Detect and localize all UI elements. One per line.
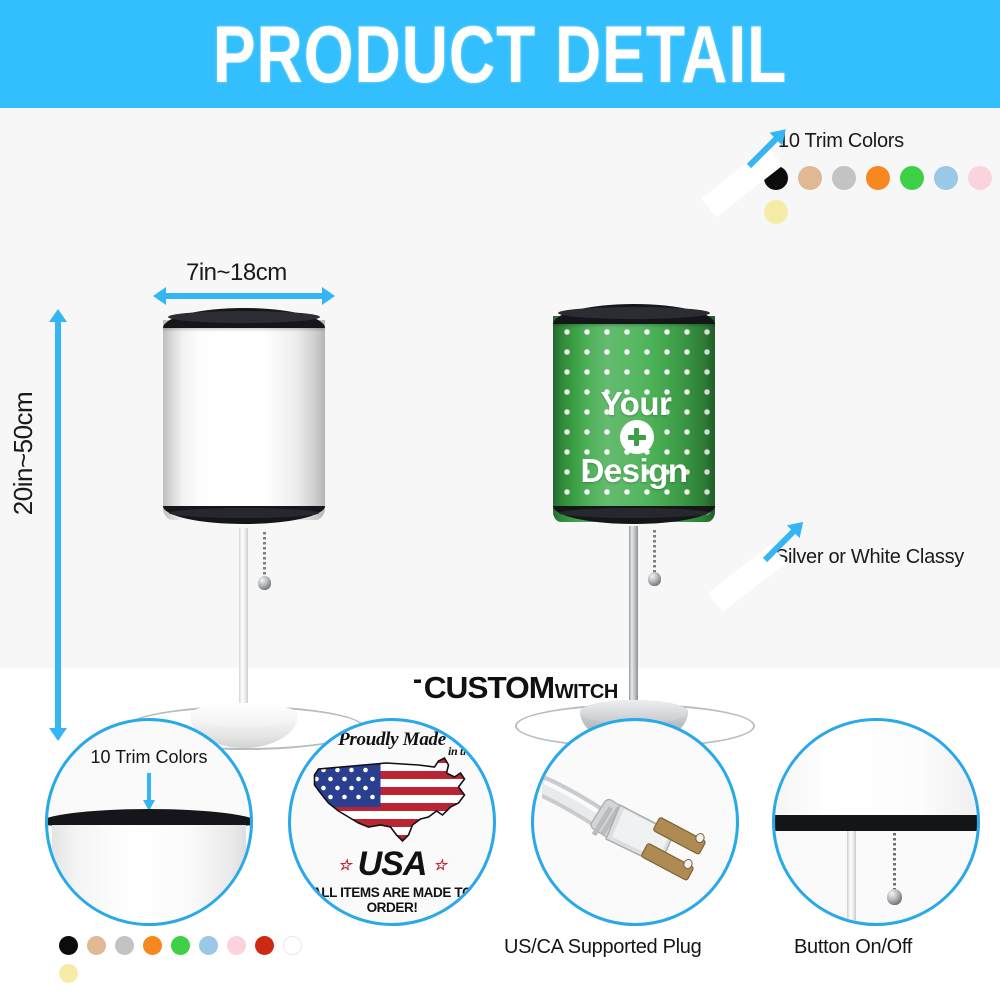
pull-chain-ball[interactable] bbox=[887, 889, 902, 905]
swatch-yellow[interactable] bbox=[764, 200, 788, 224]
swatch-yellow[interactable] bbox=[59, 964, 78, 983]
trim-inner bbox=[168, 311, 320, 323]
swatch-orange[interactable] bbox=[866, 166, 890, 190]
swatch-white[interactable] bbox=[283, 936, 302, 955]
lampshade-bottom-trim bbox=[163, 506, 325, 524]
swatch-tan[interactable] bbox=[87, 936, 106, 955]
trim-color-swatches-top-row2[interactable] bbox=[764, 200, 788, 224]
feature-made-in-usa: Proudly Made in the bbox=[288, 718, 496, 926]
swatch-gray[interactable] bbox=[115, 936, 134, 955]
lamp-pole-white bbox=[239, 528, 248, 713]
feature-circle-trim: 10 Trim Colors bbox=[45, 718, 253, 926]
swatch-orange[interactable] bbox=[143, 936, 162, 955]
feature-trim-inner-label: 10 Trim Colors bbox=[90, 747, 207, 768]
page-header: PRODUCT DETAIL bbox=[0, 0, 1000, 108]
lampshade-top-trim bbox=[163, 308, 325, 328]
trim-colors-annotation-label: 10 Trim Colors bbox=[778, 130, 904, 153]
feature-switch: Button On/Off bbox=[772, 718, 980, 926]
swatch-green[interactable] bbox=[900, 166, 924, 190]
swatch-red[interactable] bbox=[255, 936, 274, 955]
feature-circle-plug bbox=[531, 718, 739, 926]
brand-name-primary: CUSTOM bbox=[424, 670, 554, 706]
lamp-trim-closeup-icon bbox=[772, 815, 980, 831]
trim-inner bbox=[558, 307, 710, 319]
usa-flag-map-icon bbox=[308, 755, 476, 851]
c-circle-icon bbox=[390, 664, 424, 698]
swatch-light-blue[interactable] bbox=[199, 936, 218, 955]
star-icon-right: ☆ bbox=[433, 856, 445, 874]
design-line-1: Your bbox=[553, 387, 715, 421]
swatch-light-blue[interactable] bbox=[934, 166, 958, 190]
height-dimension-label: 20in~50cm bbox=[8, 392, 39, 515]
lampshade-gloss bbox=[163, 320, 325, 520]
trim-pointer-arrow bbox=[147, 773, 151, 801]
feature-circle-usa: Proudly Made in the bbox=[288, 718, 496, 926]
brand-logo: CUSTOM WITCH bbox=[390, 664, 618, 706]
usa-badge-sub: ALL ITEMS ARE MADE TO ORDER! bbox=[300, 885, 485, 915]
lampshade-closeup bbox=[772, 718, 980, 815]
usa-badge: Proudly Made in the bbox=[300, 729, 485, 915]
brand-name-secondary-wrap: WITCH bbox=[555, 682, 618, 702]
pull-chain-icon[interactable] bbox=[893, 833, 896, 891]
lampshade-green: Your Design bbox=[553, 304, 715, 526]
star-icon-left: ☆ bbox=[338, 856, 350, 874]
swatch-pink[interactable] bbox=[227, 936, 246, 955]
pull-chain-ball[interactable] bbox=[648, 572, 661, 586]
lamp-pole-closeup bbox=[847, 831, 856, 926]
power-plug-icon bbox=[542, 743, 738, 909]
feature-plug-caption: US/CA Supported Plug bbox=[504, 936, 701, 959]
pull-chain[interactable] bbox=[263, 532, 266, 580]
pull-chain[interactable] bbox=[653, 530, 656, 576]
swatch-pink[interactable] bbox=[968, 166, 992, 190]
feature-circle-switch bbox=[772, 718, 980, 926]
trim-color-swatches-bottom[interactable] bbox=[59, 936, 302, 955]
lampshade-white bbox=[163, 308, 325, 530]
product-showcase-panel: 20in~50cm 7in~18cm bbox=[0, 108, 1000, 668]
trim-color-swatches-bottom-row2[interactable] bbox=[59, 964, 78, 983]
swatch-black[interactable] bbox=[59, 936, 78, 955]
usa-proudly-made-text: Proudly Made bbox=[338, 729, 446, 750]
page-title: PRODUCT DETAIL bbox=[213, 8, 787, 101]
feature-trim-colors: 10 Trim Colors bbox=[45, 718, 253, 926]
trim-color-swatches-top[interactable] bbox=[764, 166, 1000, 190]
usa-badge-line1: Proudly Made in the bbox=[300, 729, 485, 751]
width-dimension-arrow bbox=[164, 293, 324, 299]
plus-icon bbox=[620, 420, 654, 454]
swatch-gray[interactable] bbox=[832, 166, 856, 190]
width-dimension-label: 7in~18cm bbox=[186, 259, 287, 287]
base-finish-annotation-label: Silver or White Classy bbox=[775, 546, 964, 569]
trim-inner bbox=[559, 508, 708, 518]
feature-switch-caption: Button On/Off bbox=[794, 936, 912, 959]
lamp-pole-silver bbox=[629, 526, 638, 710]
height-dimension-arrow bbox=[55, 320, 61, 730]
lampshade-top-trim bbox=[553, 304, 715, 324]
pull-chain-ball[interactable] bbox=[258, 576, 271, 590]
lampshade-body: Your Design bbox=[553, 316, 715, 522]
trim-inner bbox=[169, 508, 318, 518]
feature-plug: US/CA Supported Plug bbox=[531, 718, 739, 926]
swatch-tan[interactable] bbox=[798, 166, 822, 190]
your-design-overlay: Your Design bbox=[553, 387, 715, 488]
swatch-green[interactable] bbox=[171, 936, 190, 955]
lampshade-body bbox=[163, 320, 325, 520]
brand-name-secondary: WITCH bbox=[555, 682, 618, 702]
lampshade-closeup bbox=[52, 825, 246, 926]
design-line-2: Design bbox=[553, 454, 715, 488]
